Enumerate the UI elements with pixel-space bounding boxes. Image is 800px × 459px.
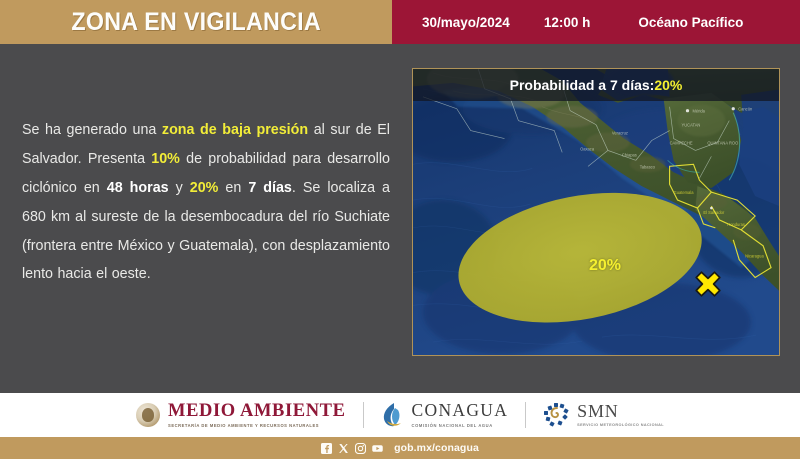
forecast-map: Mérida Cancún YUCATAN CAMPECHE QUINTANA … <box>412 68 780 356</box>
content-area: Se ha generado una zona de baja presión … <box>0 44 800 393</box>
bulletin-highlight: zona de baja presión <box>162 122 308 138</box>
instagram-icon[interactable] <box>355 443 366 454</box>
svg-text:Mérida: Mérida <box>692 109 705 114</box>
svg-text:Chiapas: Chiapas <box>622 152 637 157</box>
svg-text:YUCATAN: YUCATAN <box>682 123 701 128</box>
bulletin-text: Se ha generado una <box>22 122 162 138</box>
smn-spiral-icon <box>543 402 570 428</box>
map-canvas: Mérida Cancún YUCATAN CAMPECHE QUINTANA … <box>413 69 779 355</box>
bulletin-highlight: 10% <box>151 151 180 167</box>
medio-ambiente-title: MEDIO AMBIENTE <box>168 402 346 421</box>
logo-conagua: CONAGUA COMISIÓN NACIONAL DEL AGUA <box>381 402 509 428</box>
svg-text:El Salvador: El Salvador <box>703 210 724 215</box>
bulletin-text: en <box>218 180 248 196</box>
map-band-value: 20% <box>654 77 682 93</box>
facebook-icon[interactable] <box>321 443 332 454</box>
x-twitter-icon[interactable] <box>338 443 349 454</box>
svg-text:Cancún: Cancún <box>738 107 752 112</box>
svg-text:CAMPECHE: CAMPECHE <box>670 140 693 145</box>
smn-title: SMN <box>577 402 664 420</box>
conagua-subtitle: COMISIÓN NACIONAL DEL AGUA <box>412 423 509 428</box>
svg-text:Honduras: Honduras <box>727 222 745 227</box>
svg-text:Guatemala: Guatemala <box>674 190 695 195</box>
bulletin-highlight: 7 días <box>248 180 292 196</box>
bulletin-highlight: 48 horas <box>107 180 169 196</box>
svg-text:Tabasco: Tabasco <box>640 164 656 169</box>
logo-medio-ambiente: MEDIO AMBIENTE SECRETARÍA DE MEDIO AMBIE… <box>136 402 346 429</box>
logo-divider <box>525 402 526 428</box>
smn-subtitle: SERVICIO METEOROLÓGICO NACIONAL <box>577 423 664 429</box>
footer-social-bar: gob.mx/conagua <box>0 437 800 459</box>
youtube-icon[interactable] <box>372 443 383 454</box>
logo-divider <box>363 402 364 428</box>
page-title: ZONA EN VIGILANCIA <box>71 8 321 37</box>
mexico-eagle-seal-icon <box>136 403 160 427</box>
logo-smn: SMN SERVICIO METEOROLÓGICO NACIONAL <box>543 402 664 429</box>
header-meta-container: 30/mayo/2024 12:00 h Océano Pacífico <box>392 0 800 44</box>
conagua-wave-icon <box>381 402 405 428</box>
svg-text:Veracruz: Veracruz <box>612 131 628 136</box>
footer-url[interactable]: gob.mx/conagua <box>394 442 479 454</box>
conagua-title: CONAGUA <box>412 402 509 420</box>
map-area-probability-label: 20% <box>589 257 621 275</box>
map-band-text: Probabilidad a 7 días:20% <box>510 77 683 93</box>
bulletin-highlight: 20% <box>190 180 219 196</box>
footer-logo-bar: MEDIO AMBIENTE SECRETARÍA DE MEDIO AMBIE… <box>0 393 800 437</box>
header-title-container: ZONA EN VIGILANCIA <box>0 0 392 44</box>
medio-ambiente-subtitle: SECRETARÍA DE MEDIO AMBIENTE Y RECURSOS … <box>168 423 346 428</box>
header-date: 30/mayo/2024 <box>422 15 510 30</box>
map-band-label: Probabilidad a 7 días: <box>510 77 655 93</box>
bulletin-text-panel: Se ha generado una zona de baja presión … <box>22 116 390 289</box>
map-probability-banner: Probabilidad a 7 días:20% <box>413 69 779 101</box>
header-region: Océano Pacífico <box>638 15 743 30</box>
svg-text:Oaxaca: Oaxaca <box>580 146 595 151</box>
bulletin-paragraph: Se ha generado una zona de baja presión … <box>22 116 390 289</box>
header-time: 12:00 h <box>544 15 591 30</box>
svg-text:Nicaragua: Nicaragua <box>745 254 764 259</box>
svg-text:QUINTANA ROO: QUINTANA ROO <box>707 140 738 145</box>
x-marker-icon <box>693 269 723 304</box>
bulletin-text: y <box>169 180 190 196</box>
header-bar: ZONA EN VIGILANCIA 30/mayo/2024 12:00 h … <box>0 0 800 44</box>
